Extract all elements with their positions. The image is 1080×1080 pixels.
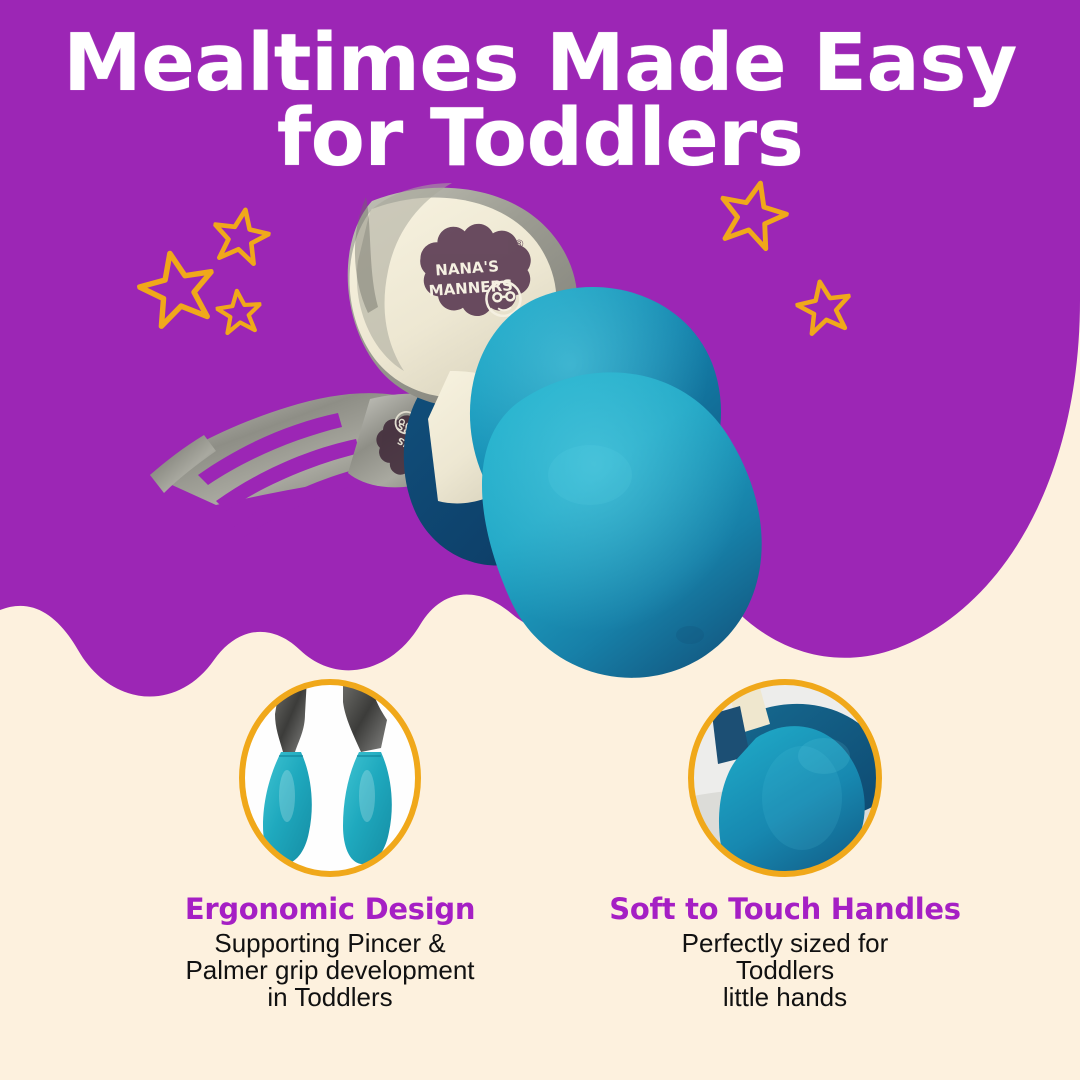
feature-description-line: little hands (585, 984, 985, 1011)
feature-description-line: Palmer grip development (130, 957, 530, 984)
page-title: Mealtimes Made Easy for Toddlers (0, 26, 1080, 176)
feature-ergonomic-design: Ergonomic Design Supporting Pincer & Pal… (130, 678, 530, 1011)
trademark-mark: ® (513, 237, 525, 251)
star-icon (718, 178, 788, 253)
feature-description: Supporting Pincer & Palmer grip developm… (130, 930, 530, 1010)
star-icon (138, 248, 216, 331)
star-icon (796, 278, 852, 339)
feature-description-line: Toddlers (585, 957, 985, 984)
feature-description-line: Supporting Pincer & (130, 930, 530, 957)
star-icon (216, 288, 262, 339)
star-icon (212, 206, 270, 269)
feature-description: Perfectly sized for Toddlers little hand… (585, 930, 985, 1010)
feature-description-line: in Toddlers (130, 984, 530, 1011)
poster-canvas: Mealtimes Made Easy for Toddlers (0, 0, 1080, 1080)
feature-soft-to-touch-handles: Soft to Touch Handles Perfectly sized fo… (585, 678, 985, 1011)
feature-description-line: Perfectly sized for (585, 930, 985, 957)
feature-image-ergonomic (235, 678, 425, 878)
feature-title: Ergonomic Design (130, 894, 530, 924)
headline-line-2: for Toddlers (0, 101, 1080, 176)
feature-title: Soft to Touch Handles (585, 894, 985, 924)
feature-image-soft-handles (684, 678, 886, 878)
